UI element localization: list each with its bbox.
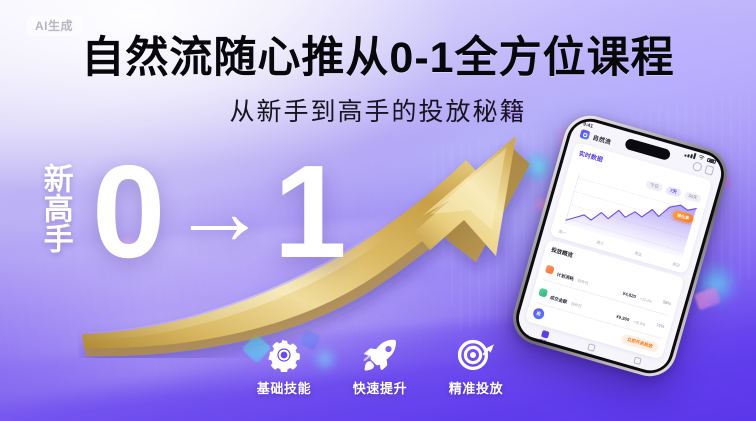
chart-badge: 转化率 xyxy=(672,210,694,225)
phone-tab-bar: 首页 数据 我的 xyxy=(514,319,668,375)
row-pct: 58% xyxy=(656,297,672,306)
gear-icon xyxy=(267,336,301,374)
feature-list: 基础技能 快速提升 xyxy=(236,336,524,397)
phone-cta-row: 投 立即开启投放 xyxy=(532,307,660,353)
row-sub: 较昨日 xyxy=(577,278,588,285)
row-name: 成交金额 xyxy=(550,294,568,304)
home-indicator xyxy=(566,355,608,367)
tab-home[interactable]: 首页 xyxy=(519,324,569,350)
avatar: 投 xyxy=(532,307,546,321)
dynamic-island xyxy=(624,138,671,161)
tab-data[interactable]: 数据 xyxy=(565,337,615,363)
phone-mockup: 9:41 自然流 xyxy=(507,109,734,382)
list-card-title: 投放概览 xyxy=(550,245,677,289)
hero-to-value: 1 xyxy=(273,146,344,278)
confetti-pink-1 xyxy=(713,174,733,191)
chart-x-axis: 周一 周三 周五 周日 xyxy=(556,228,683,270)
feature-label: 基础技能 xyxy=(257,378,311,397)
notification-icon[interactable] xyxy=(692,161,703,172)
ai-generated-watermark: AI生成 xyxy=(26,16,82,36)
phone-screen: 9:41 自然流 xyxy=(514,117,726,375)
feature-label: 精准投放 xyxy=(449,378,503,397)
phone-bezel xyxy=(510,113,729,379)
x-tick-3: 周日 xyxy=(672,262,681,269)
app-name: 自然流 xyxy=(592,133,612,147)
page-subtitle: 从新手到高手的投放秘籍 xyxy=(0,92,756,128)
row-sub: 较昨日 xyxy=(571,301,582,308)
bokeh-cyan-1 xyxy=(520,150,554,184)
row-delta: +12.4% xyxy=(640,296,653,303)
phone-list-card: 投放概览 计划消耗 较昨日 ¥4,820 +12.4% 58% xyxy=(525,239,685,360)
zero-to-one-graphic: 0 → 1 xyxy=(92,146,345,278)
x-tick-2: 周五 xyxy=(634,251,643,258)
chip-today[interactable]: 今日 xyxy=(645,180,663,192)
wifi-icon xyxy=(698,155,705,161)
phone-chart-card: 实时数据 今日 7天 30天 xyxy=(549,142,712,274)
tab-profile-label: 我的 xyxy=(631,364,639,371)
feature-item-basic-skills[interactable]: 基础技能 xyxy=(236,336,332,397)
row-pct: 72% xyxy=(649,320,665,329)
bokeh-pink-1 xyxy=(558,126,584,152)
app-logo-icon xyxy=(579,129,590,140)
feature-item-fast-growth[interactable]: 快速提升 xyxy=(332,336,428,397)
grid-icon[interactable] xyxy=(704,165,715,176)
chip-30days[interactable]: 30天 xyxy=(683,191,702,203)
rocket-icon xyxy=(362,336,398,374)
tab-profile[interactable]: 我的 xyxy=(611,351,661,375)
feature-item-precise-delivery[interactable]: 精准投放 xyxy=(428,336,524,397)
chart-card-title: 实时数据 xyxy=(578,148,705,192)
promo-banner: AI生成 自然流随心推从0-1全方位课程 从新手到高手的投放秘籍 新高手 xyxy=(0,0,756,421)
tab-data-label: 数据 xyxy=(585,351,593,358)
phone-line-chart: 转化率 xyxy=(558,168,700,263)
row-name: 计划消耗 xyxy=(556,271,574,281)
battery-icon xyxy=(707,157,717,164)
signal-icon xyxy=(684,151,696,159)
bokeh-white-1 xyxy=(194,320,210,336)
x-tick-1: 周三 xyxy=(596,240,605,247)
profile-icon xyxy=(633,356,642,365)
right-arrow-icon: → xyxy=(171,164,265,260)
confetti-pink-2 xyxy=(694,287,721,311)
chip-7days[interactable]: 7天 xyxy=(665,186,681,198)
hero-from-value: 0 xyxy=(92,146,163,278)
list-item[interactable]: 成交金额 较昨日 ¥9,360 +26.8% 72% xyxy=(536,280,668,339)
orange-icon xyxy=(545,264,555,274)
bokeh-pink-2 xyxy=(534,196,552,214)
target-icon xyxy=(457,336,495,374)
vertical-badge-text: 新高手 xyxy=(38,163,72,253)
list-item[interactable]: 计划消耗 较昨日 ¥4,820 +12.4% 58% xyxy=(543,257,675,316)
green-icon xyxy=(538,287,548,297)
start-campaign-button[interactable]: 立即开启投放 xyxy=(620,333,660,353)
home-icon xyxy=(540,330,549,339)
x-tick-0: 周一 xyxy=(558,230,567,237)
page-title: 自然流随心推从0-1全方位课程 xyxy=(0,36,756,81)
phone-app-bar: 自然流 xyxy=(569,125,723,183)
feature-label: 快速提升 xyxy=(353,378,407,397)
chart-range-chips: 今日 7天 30天 xyxy=(575,160,702,204)
bokeh-cyan-3 xyxy=(694,262,738,306)
row-delta: +26.8% xyxy=(633,319,646,326)
row-value: ¥4,820 xyxy=(622,290,636,299)
tab-home-label: 首页 xyxy=(539,338,547,345)
bokeh-cyan-2 xyxy=(466,186,488,208)
data-icon xyxy=(587,343,596,352)
row-value: ¥9,360 xyxy=(616,313,630,322)
phone-frame xyxy=(507,109,734,382)
